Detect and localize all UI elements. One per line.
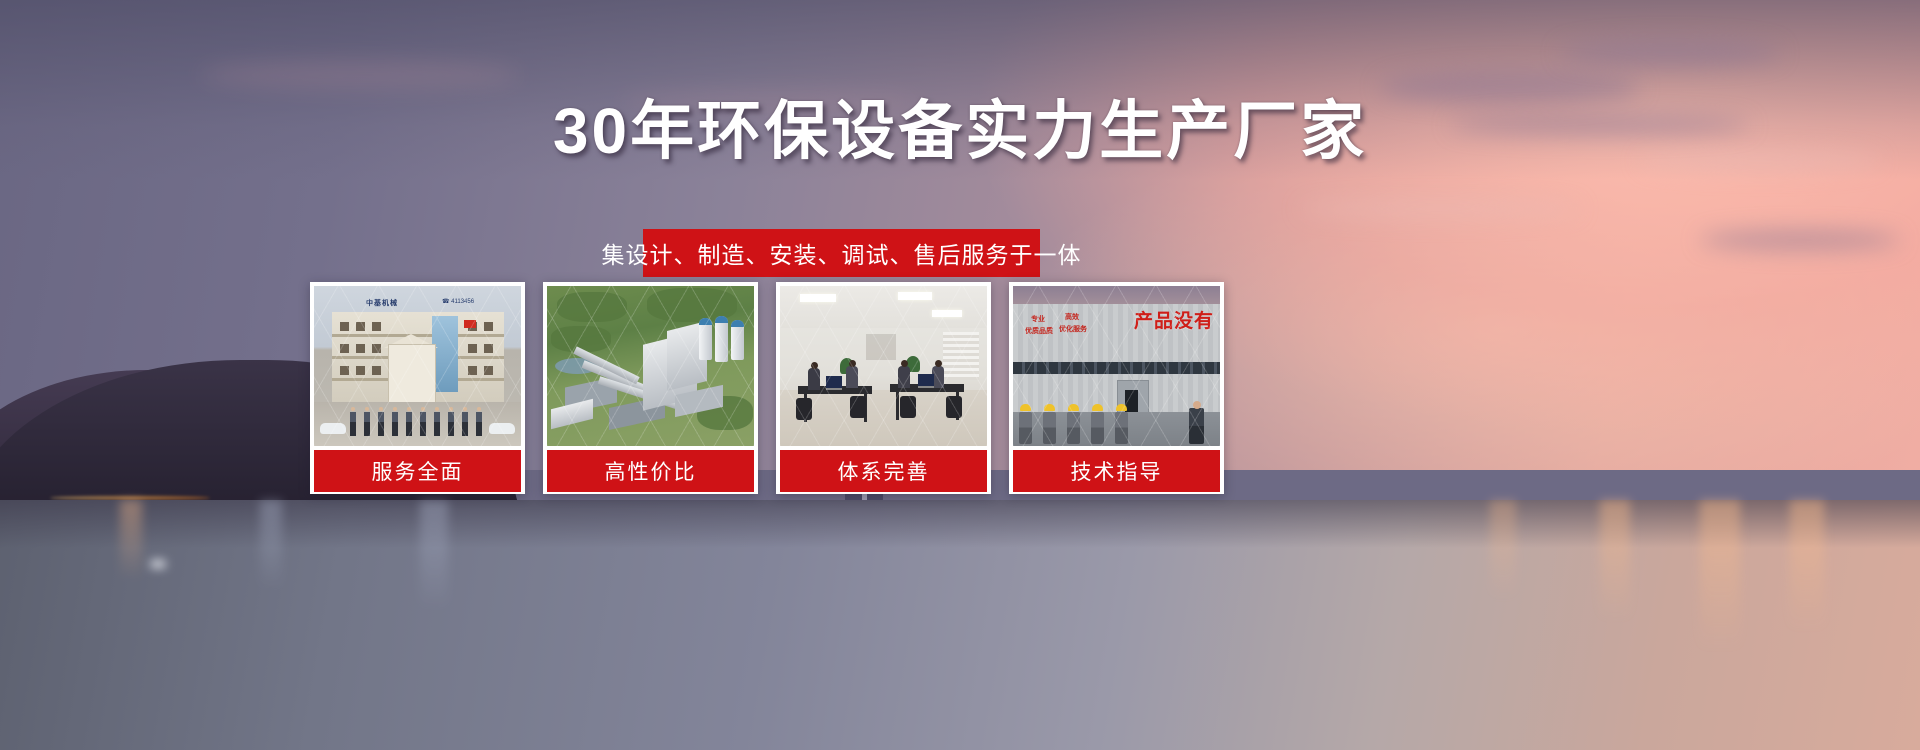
window-blinds [943,332,979,380]
factory-wall-slogan-3: 高效 [1065,314,1079,322]
aerial-plant-photo [547,286,754,446]
water-reflection [1790,500,1824,630]
feature-card-system[interactable]: 体系完善 [776,282,991,494]
feature-card-service[interactable]: 中基机械 ☎ 4113456 [310,282,525,494]
feature-card-value[interactable]: 高性价比 [543,282,758,494]
staff-person [378,412,384,436]
card-label-bar: 服务全面 [314,450,521,492]
card-label-text: 服务全面 [372,456,464,486]
building-window [372,366,381,375]
office-chair [900,396,916,418]
card-label-bar: 体系完善 [780,450,987,492]
office-worker [846,366,858,388]
building-window [468,344,477,353]
cloud [1700,230,1900,250]
ceiling [780,286,987,328]
building-illustration: 中基机械 ☎ 4113456 [314,286,521,446]
monitor [826,376,842,390]
flag [464,320,476,328]
factory-wall-slogan-2: 优质品质 [1025,328,1053,336]
factory-worker [1019,412,1032,444]
cloud [200,60,520,90]
staff-person [420,412,426,436]
card-label-text: 高性价比 [605,456,697,486]
water-shoreline-shadow [0,500,1920,548]
staff-person [364,412,370,436]
parked-car [489,423,515,434]
office-chair [946,396,962,418]
ceiling-light [800,294,836,302]
cloud [1560,40,1780,66]
storage-silo [715,316,728,362]
building-window [372,322,381,331]
building-window [484,322,493,331]
feature-card-list: 中基机械 ☎ 4113456 [310,282,1528,494]
card-label-text: 技术指导 [1071,456,1163,486]
cloud [1300,200,1580,218]
staff-person [434,412,440,436]
aerial-plant-illustration [547,286,754,446]
building-window [356,322,365,331]
office-room-photo [780,286,987,446]
water-reflection [420,500,448,610]
factory-doorway [1125,390,1138,414]
parked-car [320,423,346,434]
factory-worker [1067,412,1080,444]
office-illustration [780,286,987,446]
card-label-bar: 技术指导 [1013,450,1220,492]
desk-leg [896,392,899,420]
staff-person [476,412,482,436]
factory-worker [1115,412,1128,444]
factory-worker [1043,412,1056,444]
water-reflection [1490,500,1516,600]
factory-illustration: 产品没有 专业 优质品质 高效 优化服务 [1013,286,1220,446]
green-field [557,292,627,322]
company-sign-text: 中基机械 [366,298,398,308]
boat [150,560,166,568]
building-window [340,322,349,331]
company-phone-text: ☎ 4113456 [442,298,474,305]
hero-banner: 30年环保设备实力生产厂家 集设计、制造、安装、调试、售后服务于一体 中基机械 … [0,0,1920,750]
storage-silo [731,320,744,360]
wall-decoration [866,334,896,360]
building-floor-line [332,334,504,337]
staff-person [392,412,398,436]
factory-workers-photo: 产品没有 专业 优质品质 高效 优化服务 [1013,286,1220,446]
factory-window-strip [1013,362,1220,374]
office-chair [796,398,812,420]
water-reflection [260,500,282,590]
water-reflection [120,500,142,580]
factory-wall-slogan-4: 优化服务 [1059,326,1087,334]
staff-person [406,412,412,436]
subtitle-text: 集设计、制造、安装、调试、售后服务于一体 [602,236,1082,270]
staff-person [448,412,454,436]
water-reflection [1700,500,1740,650]
factory-wall-headline: 产品没有 [1134,306,1214,333]
page-title: 30年环保设备实力生产厂家 [0,99,1920,163]
office-chair [850,396,866,418]
card-label-text: 体系完善 [838,456,930,486]
staff-person [350,412,356,436]
monitor [918,374,934,388]
staff-person [462,412,468,436]
office-worker [898,366,910,388]
building-window [356,366,365,375]
site-manager [1189,408,1204,444]
subtitle-bar: 集设计、制造、安装、调试、售后服务于一体 [643,229,1040,277]
factory-sky [1013,286,1220,306]
building-window [468,366,477,375]
building-window [484,344,493,353]
water-reflection [1600,500,1630,620]
plant-structure [551,399,593,429]
ceiling-light [932,310,962,317]
building-entrance [388,344,436,406]
storage-silo [699,318,712,360]
ceiling-light [898,292,932,300]
factory-worker [1091,412,1104,444]
building-window [340,366,349,375]
office-worker [808,368,820,390]
building-window [340,344,349,353]
factory-wall-slogan-1: 专业 [1031,316,1045,324]
card-label-bar: 高性价比 [547,450,754,492]
company-building-photo: 中基机械 ☎ 4113456 [314,286,521,446]
feature-card-technical[interactable]: 产品没有 专业 优质品质 高效 优化服务 [1009,282,1224,494]
building-window [356,344,365,353]
building-window [372,344,381,353]
building-window [484,366,493,375]
river-water [0,500,1920,750]
